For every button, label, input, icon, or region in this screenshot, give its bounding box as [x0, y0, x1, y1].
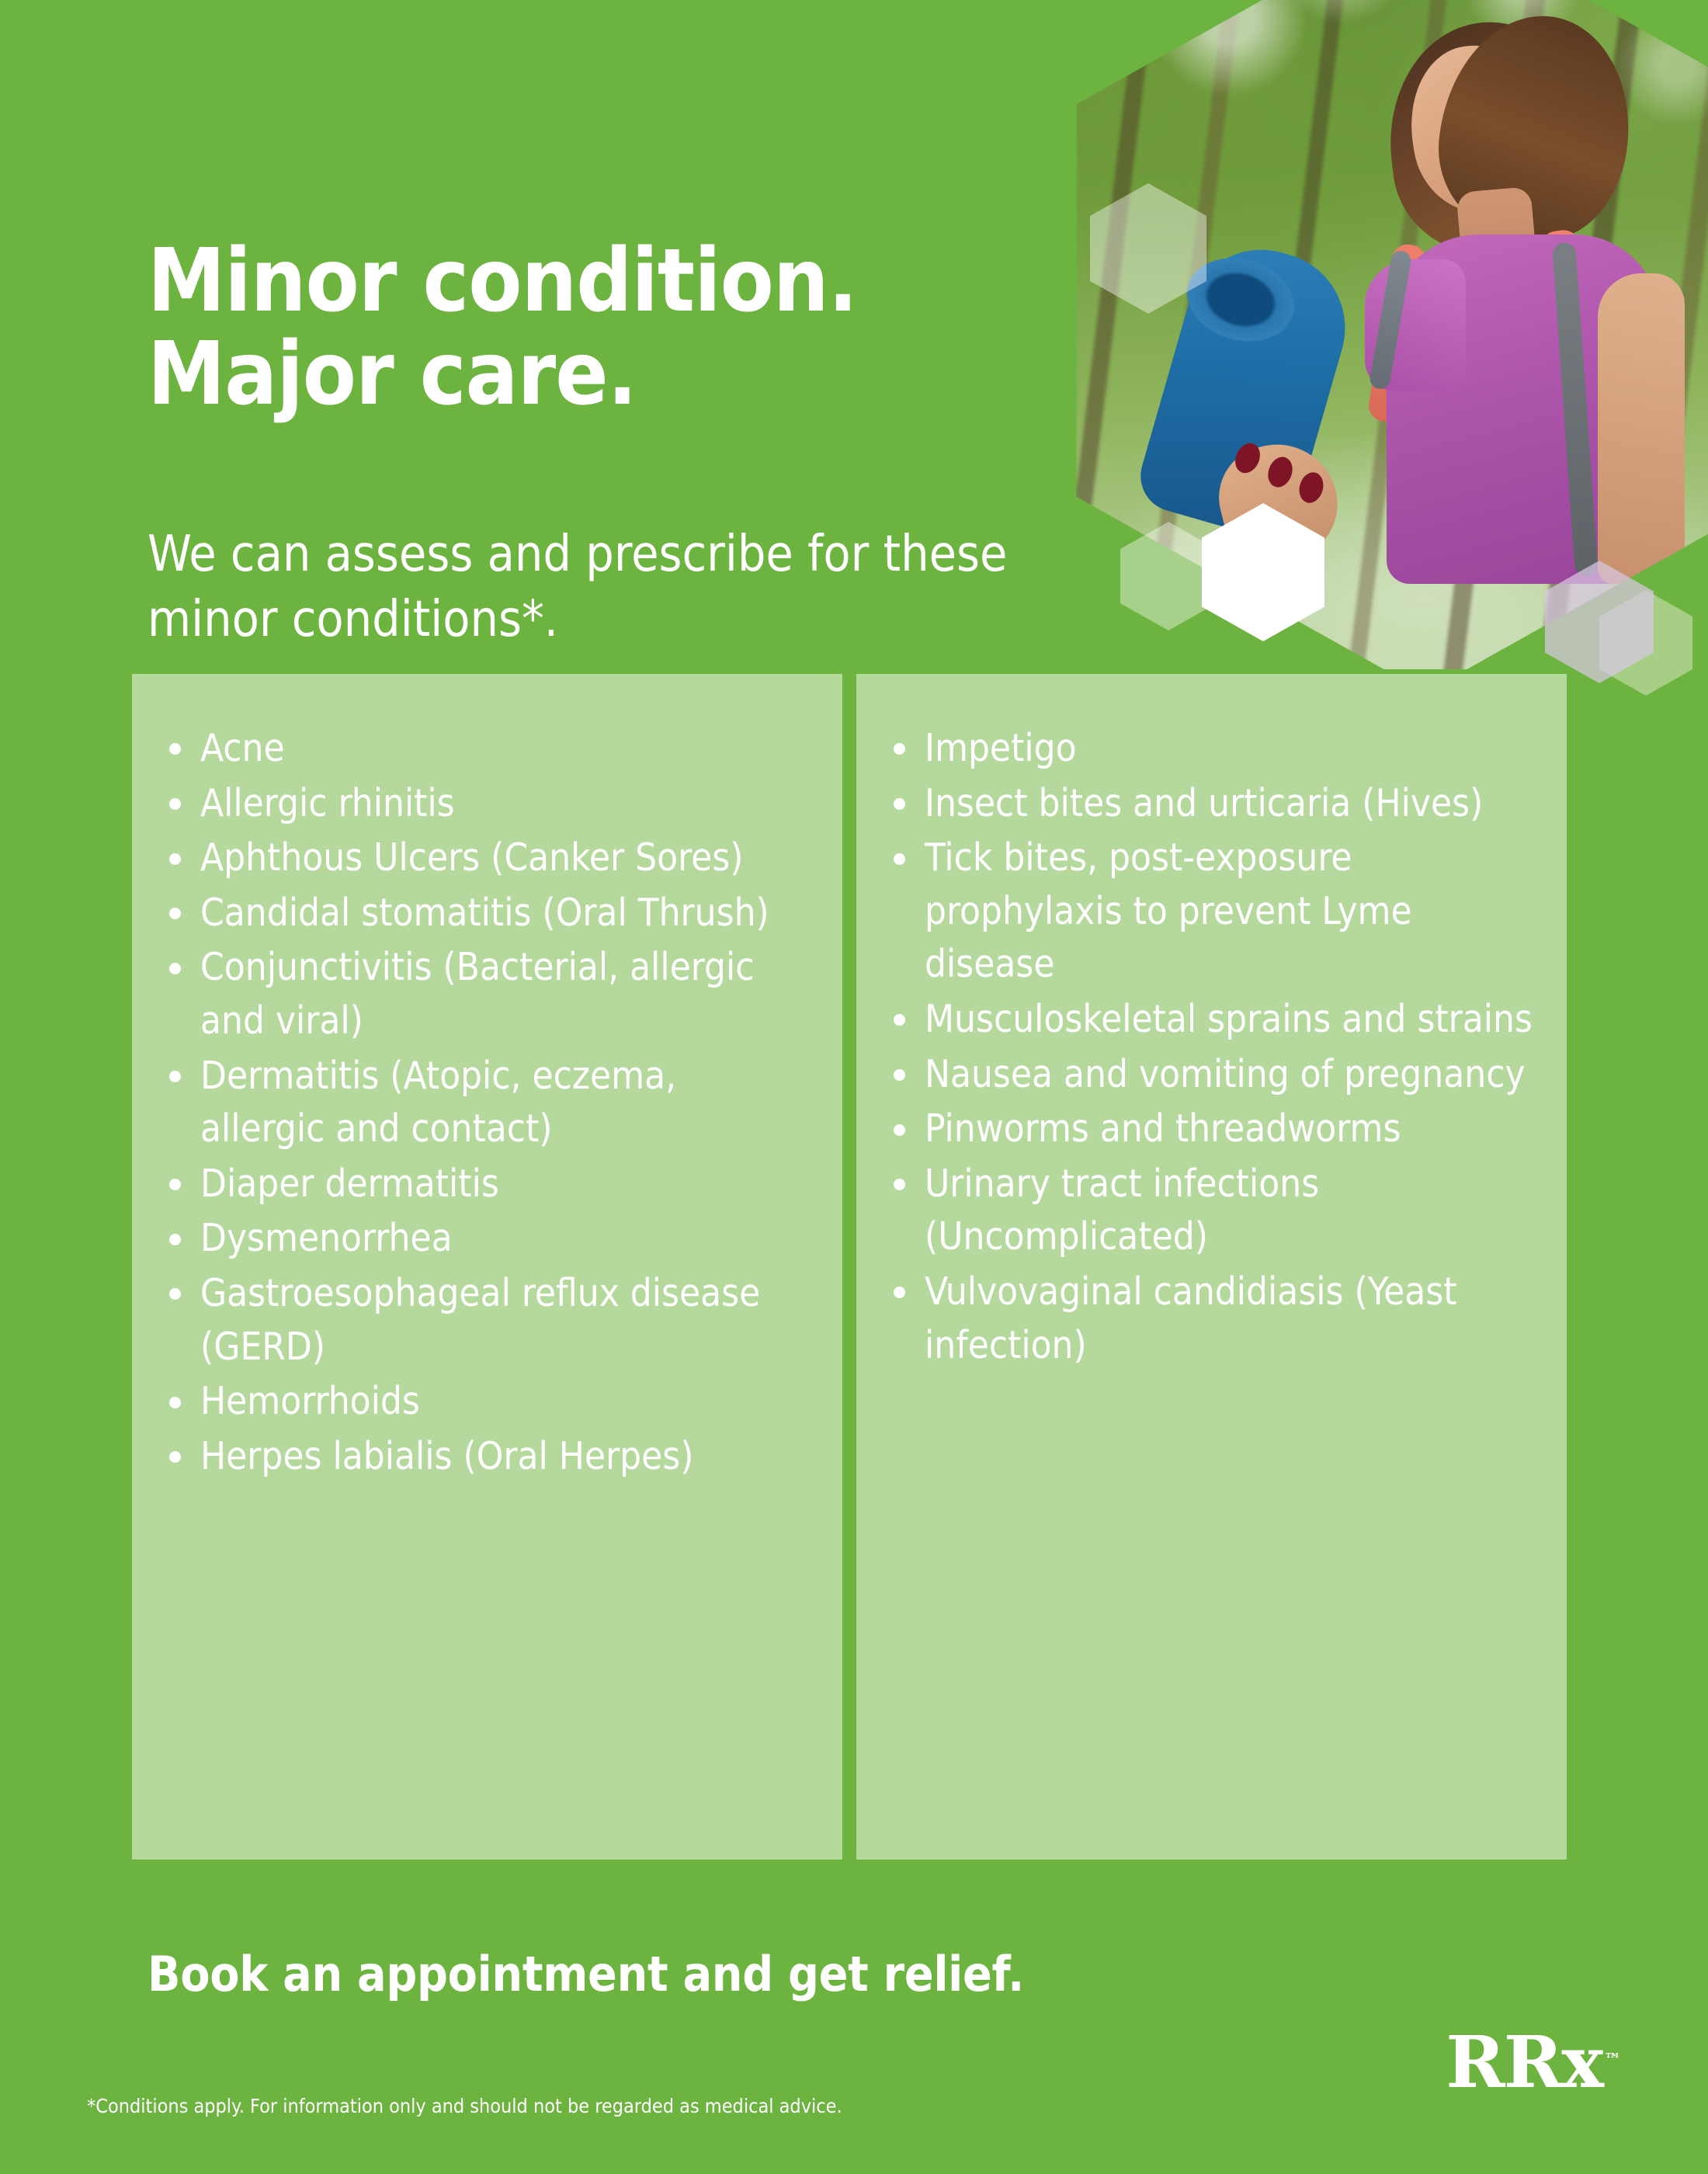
bullet-icon — [894, 1179, 905, 1190]
cta-text: Book an appointment and get relief. — [148, 1946, 1024, 2002]
arm — [1598, 273, 1685, 584]
condition-label: Musculoskeletal sprains and strains — [925, 997, 1533, 1041]
condition-label: Tick bites, post-exposure prophylaxis to… — [925, 835, 1412, 986]
condition-item: Allergic rhinitis — [163, 777, 811, 831]
condition-label: Pinworms and threadworms — [925, 1106, 1401, 1151]
condition-item: Musculoskeletal sprains and strains — [887, 993, 1536, 1047]
condition-item: Vulvovaginal candidiasis (Yeast infectio… — [887, 1266, 1536, 1372]
condition-label: Dysmenorrhea — [200, 1216, 453, 1260]
bullet-icon — [169, 908, 181, 919]
condition-item: Dermatitis (Atopic, eczema, allergic and… — [163, 1050, 811, 1156]
condition-label: Vulvovaginal candidiasis (Yeast infectio… — [925, 1269, 1456, 1367]
condition-item: Dysmenorrhea — [163, 1212, 811, 1266]
bullet-icon — [169, 1451, 181, 1463]
condition-item: Gastroesophageal reflux disease (GERD) — [163, 1267, 811, 1374]
condition-label: Insect bites and urticaria (Hives) — [925, 781, 1483, 825]
bullet-icon — [894, 1069, 905, 1081]
condition-item: Diaper dermatitis — [163, 1158, 811, 1211]
condition-label: Hemorrhoids — [200, 1379, 420, 1423]
condition-label: Herpes labialis (Oral Herpes) — [200, 1434, 693, 1478]
condition-item: Hemorrhoids — [163, 1375, 811, 1429]
bullet-icon — [169, 853, 181, 865]
conditions-card-left: AcneAllergic rhinitisAphthous Ulcers (Ca… — [132, 674, 842, 1860]
headline-line-2: Major care. — [148, 324, 637, 425]
bullet-icon — [169, 1288, 181, 1300]
bullet-icon — [894, 1124, 905, 1136]
bullet-icon — [169, 963, 181, 974]
condition-item: Pinworms and threadworms — [887, 1103, 1536, 1156]
disclaimer-text: *Conditions apply. For information only … — [87, 2095, 842, 2117]
condition-item: Tick bites, post-exposure prophylaxis to… — [887, 832, 1536, 991]
bullet-icon — [894, 1287, 905, 1298]
conditions-panel: AcneAllergic rhinitisAphthous Ulcers (Ca… — [132, 674, 1567, 1860]
condition-label: Urinary tract infections (Uncomplicated) — [925, 1162, 1319, 1259]
condition-item: Herpes labialis (Oral Herpes) — [163, 1430, 811, 1484]
condition-label: Impetigo — [925, 726, 1077, 770]
bullet-icon — [169, 743, 181, 755]
condition-label: Diaper dermatitis — [200, 1162, 499, 1206]
condition-label: Dermatitis (Atopic, eczema, allergic and… — [200, 1054, 676, 1151]
bullet-icon — [169, 1234, 181, 1245]
conditions-list-left: AcneAllergic rhinitisAphthous Ulcers (Ca… — [163, 722, 811, 1483]
bullet-icon — [169, 798, 181, 810]
page-title: Minor condition. Major care. — [148, 235, 1079, 422]
conditions-list-right: ImpetigoInsect bites and urticaria (Hive… — [887, 722, 1536, 1372]
brand-logo: RRx™ — [1446, 2026, 1621, 2098]
condition-item: Aphthous Ulcers (Canker Sores) — [163, 832, 811, 885]
bullet-icon — [894, 853, 905, 865]
bullet-icon — [894, 743, 905, 755]
condition-label: Conjunctivitis (Bacterial, allergic and … — [200, 945, 755, 1043]
subhead-line-1: We can assess and prescribe for these — [148, 526, 1007, 583]
condition-item: Candidal stomatitis (Oral Thrush) — [163, 887, 811, 940]
trademark-symbol: ™ — [1604, 2050, 1621, 2070]
condition-label: Candidal stomatitis (Oral Thrush) — [200, 891, 769, 935]
bullet-icon — [169, 1397, 181, 1408]
condition-label: Gastroesophageal reflux disease (GERD) — [200, 1271, 760, 1369]
headline-line-1: Minor condition. — [148, 231, 857, 332]
condition-item: Conjunctivitis (Bacterial, allergic and … — [163, 941, 811, 1047]
condition-item: Acne — [163, 722, 811, 776]
logo-wordmark: RRx — [1446, 2020, 1602, 2104]
bullet-icon — [169, 1071, 181, 1082]
subhead-line-2: minor conditions*. — [148, 591, 558, 648]
condition-label: Acne — [200, 726, 285, 770]
bullet-icon — [894, 1014, 905, 1026]
condition-item: Insect bites and urticaria (Hives) — [887, 777, 1536, 831]
condition-label: Allergic rhinitis — [200, 781, 455, 825]
conditions-card-right: ImpetigoInsect bites and urticaria (Hive… — [856, 674, 1567, 1860]
condition-item: Nausea and vomiting of pregnancy — [887, 1048, 1536, 1102]
bullet-icon — [894, 798, 905, 810]
page-subtitle: We can assess and prescribe for these mi… — [148, 522, 1079, 653]
condition-item: Impetigo — [887, 722, 1536, 776]
bullet-icon — [169, 1179, 181, 1190]
condition-label: Nausea and vomiting of pregnancy — [925, 1052, 1526, 1096]
condition-item: Urinary tract infections (Uncomplicated) — [887, 1158, 1536, 1264]
condition-label: Aphthous Ulcers (Canker Sores) — [200, 835, 743, 880]
